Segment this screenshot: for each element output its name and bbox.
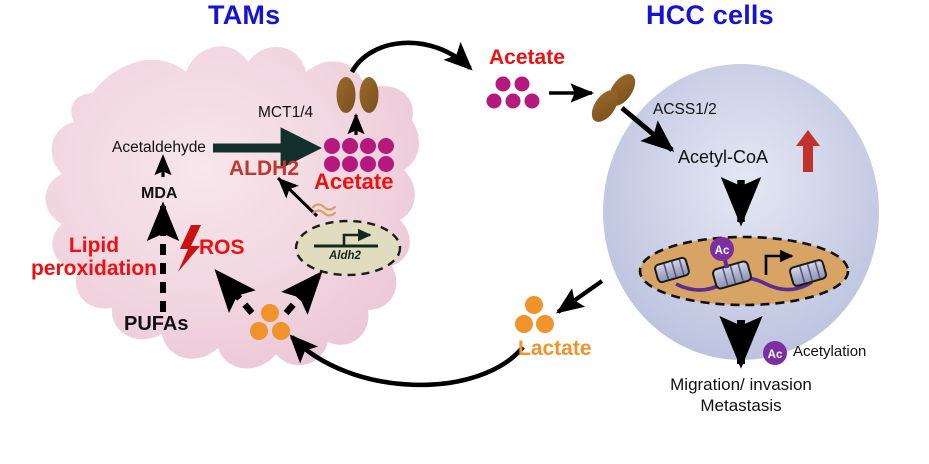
pufas-label: PUFAs xyxy=(124,314,188,334)
svg-text:Ac: Ac xyxy=(768,349,783,361)
mct-label: MCT1/4 xyxy=(258,105,313,121)
lactate-secretion-arrow xyxy=(558,281,602,312)
hcc-title: HCC cells xyxy=(646,2,774,29)
extracellular-lactate-label: Lactate xyxy=(518,338,592,359)
hcc-nucleus: Ac xyxy=(640,237,848,305)
outcome-label: Migration/ invasion Metastasis xyxy=(641,374,841,417)
acetyl-coa-label: Acetyl-CoA xyxy=(678,148,768,166)
aldh2-enzyme-label: ALDH2 xyxy=(229,158,299,179)
extracellular-acetate-label: Acetate xyxy=(489,47,565,68)
outcome-line1: Migration/ invasion xyxy=(641,374,841,395)
extracellular-acetate-molecules xyxy=(487,77,540,109)
figure-canvas: Ac Ac TAMs HCC cells xyxy=(0,0,929,464)
outcome-line2: Metastasis xyxy=(641,395,841,416)
tam-acetate-label: Acetate xyxy=(314,171,393,193)
lipid-peroxidation-line1: Lipid xyxy=(24,235,164,258)
aldh2-gene-label: Aldh2 xyxy=(329,251,361,263)
tams-title: TAMs xyxy=(208,2,280,29)
ros-label: ROS xyxy=(199,237,245,258)
extracellular-lactate-molecules xyxy=(515,296,554,333)
acetate-export-arrow xyxy=(352,43,470,72)
aldh2-gene-locus xyxy=(296,221,400,275)
lipid-peroxidation-line2: peroxidation xyxy=(24,258,164,281)
lipid-peroxidation-label: Lipid peroxidation xyxy=(24,235,164,280)
mda-label: MDA xyxy=(141,186,177,202)
acss-label: ACSS1/2 xyxy=(653,102,717,118)
svg-text:Ac: Ac xyxy=(715,245,730,257)
legend-ac-badge-icon: Ac xyxy=(763,341,787,365)
acetylation-legend-label: Acetylation xyxy=(793,344,866,359)
acetaldehyde-label: Acetaldehyde xyxy=(112,140,206,156)
